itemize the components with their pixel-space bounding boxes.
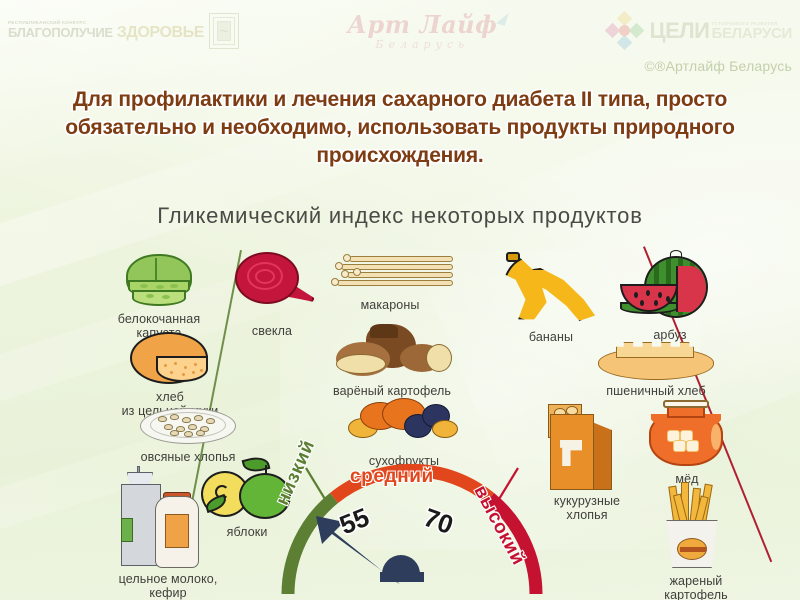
honey-jar-icon [645,398,729,470]
gauge-arc-low [288,498,334,594]
beet-icon [229,250,315,322]
food-item-boiled-potato: варёный картофель [308,320,476,398]
oat-flakes-icon [140,404,236,448]
logo-health-word1: БЛАГОПОЛУЧИЕ [8,26,113,39]
logo-celi-belarusi: ЦЕЛИ УСТОЙЧИВОГО РАЗВИТИЯ БЕЛАРУСИ [606,12,793,50]
gauge-zone-label-medium: средний [350,466,434,488]
food-item-pasta: макароны [316,252,464,312]
bird-icon [496,9,509,25]
logo-artlife-country: Беларусь [375,39,469,50]
pasta-icon [327,252,453,296]
food-item-honey: мёд [632,398,742,486]
food-item-watermelon: арбуз [612,250,728,342]
bananas-icon [496,252,606,328]
corn-flakes-box-icon [546,404,628,492]
whole-grain-bread-icon [128,330,212,388]
watermelon-icon [618,250,722,326]
food-item-dried-fruits: сухофрукты [330,396,478,468]
diamond-rosette-icon [606,12,644,50]
gauge-tick-70 [496,468,518,504]
food-item-cabbage: белокочанная капуста [92,252,226,341]
boiled-potato-icon [328,320,456,382]
food-caption: макароны [316,298,464,312]
food-item-bananas: бананы [490,252,612,344]
header-bar: РЕСПУБЛИКАНСКИЙ КОНКУРС БЛАГОПОЛУЧИЕ ЗДО… [0,0,800,62]
logo-artlife-name: Арт Лайф [347,13,497,37]
french-fries-icon [655,480,737,572]
cabbage-icon [122,252,196,310]
pulse-wave-icon: 〜 [220,26,228,37]
food-caption: жареный картофель [636,574,756,600]
logo-artlife: Арт Лайф Беларусь [347,13,497,50]
gauge-tick-55 [306,468,328,504]
infographic-slide: РЕСПУБЛИКАНСКИЙ КОНКУРС БЛАГОПОЛУЧИЕ ЗДО… [0,0,800,600]
logo-health-word2: ЗДОРОВЬЕ [117,25,204,41]
chart-subtitle: Гликемический индекс некоторых продуктов [0,203,800,229]
wheat-bread-icon [598,340,714,382]
logo-blagopoluchie-zdorovie: РЕСПУБЛИКАНСКИЙ КОНКУРС БЛАГОПОЛУЧИЕ ЗДО… [8,13,239,49]
food-item-wheat-bread: пшеничный хлеб [576,340,736,398]
health-emblem-icon: 〜 [209,13,239,49]
copyright-notice: ©®Артлайф Беларусь [644,58,792,74]
dried-fruits-icon [346,396,462,452]
page-title: Для профилактики и лечения сахарного диа… [0,86,800,170]
food-caption: цельное молоко, кефир [92,572,244,600]
food-caption: пшеничный хлеб [576,384,736,398]
logo-goals-main: ЦЕЛИ [650,20,710,42]
food-item-fried-potato: жареный картофель [636,480,756,600]
logo-goals-sub: БЕЛАРУСИ [712,26,793,41]
